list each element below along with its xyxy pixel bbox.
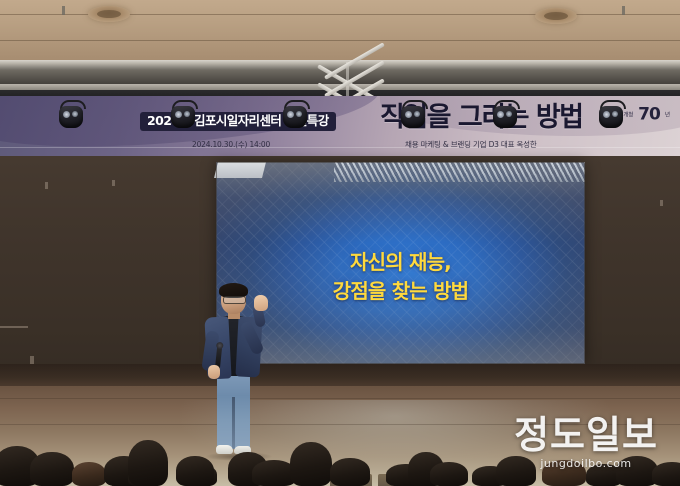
spotlight-housing (401, 106, 425, 128)
logo-number: 70 (638, 105, 660, 125)
ceiling-light-fixture (88, 6, 130, 22)
spotlight-lens-secondary (72, 111, 78, 117)
stage-spotlight (598, 100, 624, 130)
banner-date-time: 2024.10.30.(수) 14:00 (192, 139, 270, 150)
spotlight-lens-secondary (506, 111, 512, 117)
audience-row (0, 426, 680, 486)
audience-head (496, 456, 536, 486)
logo-label: 개청 (623, 113, 633, 119)
spotlight-lens-secondary (296, 111, 302, 117)
stage-front-edge (0, 364, 680, 386)
spotlight-housing (59, 106, 83, 128)
wall-marker (30, 356, 34, 364)
photo-scene: 2024년 김포시일자리센터 뉴딜특강 직업을 그리는 방법 2024.10.3… (0, 0, 680, 486)
spotlight-lens-secondary (184, 111, 190, 117)
logo-tail: 년 (665, 113, 670, 119)
audience-head (430, 462, 468, 486)
truss-bolt (62, 6, 65, 15)
spotlight-housing (493, 106, 517, 128)
floor-seam (0, 398, 680, 399)
presenter-hand-left (208, 365, 220, 379)
stage-spotlight (400, 100, 426, 130)
audience-head (128, 440, 168, 486)
audience-head (290, 442, 332, 486)
wall-marker (45, 182, 48, 189)
spotlight-lens (497, 111, 504, 118)
spotlight-lens-secondary (414, 111, 420, 117)
audience-head (176, 456, 214, 486)
wall-marker (112, 180, 115, 186)
spotlight-lens (175, 111, 182, 118)
truss-bolt (622, 6, 625, 15)
audience-head (30, 452, 74, 486)
presenter-hand-right-raised (254, 295, 268, 311)
audience-head (652, 462, 680, 486)
spotlight-lens (287, 111, 294, 118)
wall-trim (0, 326, 28, 328)
banner-speaker-info: 채용 마케팅 & 브랜딩 기업 D3 대표 옥성한 (405, 139, 537, 150)
floor-seam (0, 424, 680, 425)
stage-spotlight (492, 100, 518, 130)
ceiling-seam (0, 40, 680, 41)
stage-spotlight (58, 100, 84, 130)
spotlight-housing (171, 106, 195, 128)
wall-marker (660, 200, 663, 206)
spotlight-housing (599, 106, 623, 128)
ceiling-light-fixture (535, 8, 577, 24)
banner-anniversary-logo: 개청 70 년 (623, 104, 670, 125)
spotlight-housing (283, 106, 307, 128)
spotlight-lens (63, 111, 70, 118)
banner-divider (0, 147, 680, 148)
audience-head (72, 462, 106, 486)
audience-head (542, 460, 586, 486)
spotlight-lens-secondary (612, 111, 618, 117)
audience-head (330, 458, 370, 486)
stage-spotlight (282, 100, 308, 130)
glasses-icon (223, 296, 246, 304)
spotlight-lens (603, 111, 610, 118)
stage-spotlight (170, 100, 196, 130)
spotlight-lens (405, 111, 412, 118)
